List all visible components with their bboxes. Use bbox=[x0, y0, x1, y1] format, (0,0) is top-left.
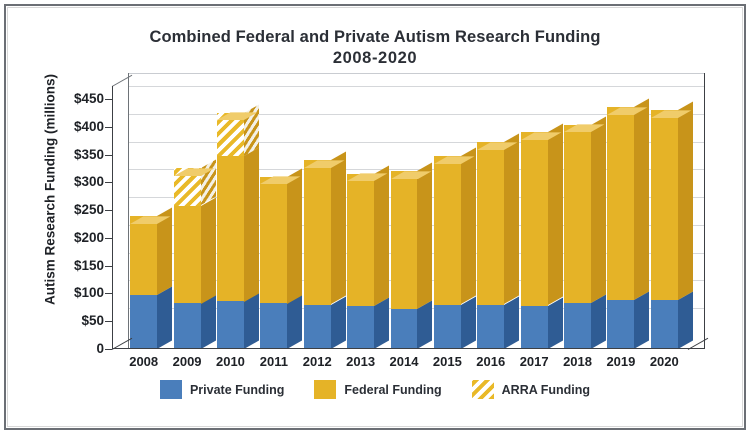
segment-face bbox=[304, 160, 331, 304]
segment-side bbox=[244, 293, 259, 349]
segment-side bbox=[548, 297, 563, 349]
bar-segment-federal-funding-2013[interactable] bbox=[347, 174, 374, 306]
segment-side bbox=[331, 296, 346, 349]
segment-face bbox=[521, 306, 548, 349]
bar-segment-federal-funding-2014[interactable] bbox=[391, 171, 418, 309]
legend-item-federal: Federal Funding bbox=[314, 380, 441, 399]
segment-face bbox=[347, 174, 374, 306]
y-tick-mark bbox=[105, 127, 112, 128]
arra-funding-swatch bbox=[472, 380, 494, 399]
segment-face bbox=[477, 305, 504, 349]
segment-side bbox=[504, 134, 519, 305]
legend-item-arra: ARRA Funding bbox=[472, 380, 590, 399]
y-tick-label: 0 bbox=[46, 341, 104, 356]
y-tick-mark bbox=[105, 99, 112, 100]
x-tick-label-2019: 2019 bbox=[601, 354, 640, 369]
x-tick-label-2015: 2015 bbox=[428, 354, 467, 369]
bar-2016[interactable] bbox=[477, 86, 504, 349]
x-tick-label-2013: 2013 bbox=[341, 354, 380, 369]
y-axis-title: Autism Research Funding (millions) bbox=[43, 40, 58, 340]
bar-segment-federal-funding-2012[interactable] bbox=[304, 160, 331, 304]
segment-side bbox=[678, 292, 693, 349]
x-tick-label-2009: 2009 bbox=[168, 354, 207, 369]
chart-screenshot: Combined Federal and Private Autism Rese… bbox=[0, 0, 750, 434]
bar-segment-federal-funding-2015[interactable] bbox=[434, 156, 461, 304]
y-tick-mark bbox=[105, 238, 112, 239]
bar-segment-private-funding-2011[interactable] bbox=[260, 303, 287, 349]
segment-side bbox=[244, 147, 259, 301]
bar-segment-private-funding-2020[interactable] bbox=[651, 300, 678, 349]
segment-face bbox=[391, 309, 418, 349]
bar-2017[interactable] bbox=[521, 86, 548, 349]
segment-face bbox=[174, 206, 201, 304]
chart-subtitle: 2008-2020 bbox=[0, 48, 750, 69]
x-tick-label-2018: 2018 bbox=[558, 354, 597, 369]
bar-2018[interactable] bbox=[564, 86, 591, 349]
segment-side bbox=[201, 197, 216, 303]
segment-side bbox=[287, 295, 302, 349]
segment-side bbox=[634, 99, 649, 300]
bar-segment-private-funding-2013[interactable] bbox=[347, 306, 374, 349]
segment-side bbox=[504, 296, 519, 349]
y-tick-mark bbox=[105, 210, 112, 211]
segment-face bbox=[607, 300, 634, 349]
segment-side bbox=[417, 163, 432, 309]
segment-face bbox=[434, 156, 461, 304]
bar-segment-private-funding-2010[interactable] bbox=[217, 301, 244, 349]
chart-legend: Private Funding Federal Funding ARRA Fun… bbox=[0, 380, 750, 399]
bar-segment-federal-funding-2010[interactable] bbox=[217, 156, 244, 302]
x-tick-label-2011: 2011 bbox=[254, 354, 293, 369]
segment-side bbox=[157, 287, 172, 349]
segment-side bbox=[678, 102, 693, 300]
plot-area: $450$400$350$300$250$200$150$100$500 200… bbox=[112, 86, 704, 349]
segment-face bbox=[607, 107, 634, 300]
legend-item-private: Private Funding bbox=[160, 380, 284, 399]
bar-segment-private-funding-2018[interactable] bbox=[564, 303, 591, 349]
segment-face bbox=[651, 300, 678, 349]
segment-side bbox=[591, 116, 606, 303]
bar-2013[interactable] bbox=[347, 86, 374, 349]
x-tick-label-2020: 2020 bbox=[645, 354, 684, 369]
segment-side bbox=[374, 166, 389, 306]
segment-side bbox=[591, 294, 606, 349]
segment-face bbox=[217, 156, 244, 302]
y-tick-mark bbox=[105, 321, 112, 322]
bar-2011[interactable] bbox=[260, 86, 287, 349]
bar-2020[interactable] bbox=[651, 86, 678, 349]
bar-segment-private-funding-2015[interactable] bbox=[434, 305, 461, 349]
private-funding-swatch bbox=[160, 380, 182, 399]
bar-segment-federal-funding-2019[interactable] bbox=[607, 107, 634, 300]
segment-face bbox=[304, 305, 331, 349]
segment-side bbox=[331, 152, 346, 305]
bar-segment-federal-funding-2009[interactable] bbox=[174, 206, 201, 304]
segment-side bbox=[287, 168, 302, 303]
x-tick-label-2014: 2014 bbox=[385, 354, 424, 369]
legend-label-arra: ARRA Funding bbox=[502, 383, 590, 397]
x-tick-label-2008: 2008 bbox=[124, 354, 163, 369]
segment-face bbox=[434, 305, 461, 349]
segment-face bbox=[651, 110, 678, 300]
bar-segment-private-funding-2009[interactable] bbox=[174, 303, 201, 349]
legend-label-private: Private Funding bbox=[190, 383, 284, 397]
x-axis-line bbox=[112, 348, 704, 349]
segment-face bbox=[260, 177, 287, 304]
x-tick-label-2012: 2012 bbox=[298, 354, 337, 369]
segment-face bbox=[521, 132, 548, 305]
segment-face bbox=[564, 125, 591, 303]
bar-segment-private-funding-2012[interactable] bbox=[304, 305, 331, 349]
segment-side bbox=[374, 297, 389, 349]
bar-segment-federal-funding-2011[interactable] bbox=[260, 177, 287, 304]
segment-face bbox=[217, 301, 244, 349]
segment-side bbox=[461, 296, 476, 349]
segment-face bbox=[347, 306, 374, 349]
bar-segment-federal-funding-2017[interactable] bbox=[521, 132, 548, 305]
y-tick-mark bbox=[105, 293, 112, 294]
bar-segment-federal-funding-2008[interactable] bbox=[130, 216, 157, 295]
bar-segment-private-funding-2017[interactable] bbox=[521, 306, 548, 349]
bar-segment-federal-funding-2018[interactable] bbox=[564, 125, 591, 303]
axis-back-right bbox=[704, 73, 705, 349]
x-tick-label-2016: 2016 bbox=[471, 354, 510, 369]
segment-face bbox=[477, 142, 504, 304]
segment-face bbox=[130, 216, 157, 295]
segment-face bbox=[391, 171, 418, 309]
y-axis-line bbox=[112, 86, 113, 349]
bar-segment-federal-funding-2016[interactable] bbox=[477, 142, 504, 304]
segment-side bbox=[417, 301, 432, 349]
bar-segment-private-funding-2019[interactable] bbox=[607, 300, 634, 349]
bar-2014[interactable] bbox=[391, 86, 418, 349]
x-tick-label-2017: 2017 bbox=[515, 354, 554, 369]
chart-title-block: Combined Federal and Private Autism Rese… bbox=[0, 27, 750, 69]
bar-2008[interactable] bbox=[130, 86, 157, 349]
segment-face bbox=[130, 295, 157, 349]
bar-2012[interactable] bbox=[304, 86, 331, 349]
segment-side bbox=[634, 292, 649, 349]
axis-back-left bbox=[128, 73, 129, 349]
y-tick-mark bbox=[105, 182, 112, 183]
segment-side bbox=[548, 124, 563, 306]
bar-segment-private-funding-2008[interactable] bbox=[130, 295, 157, 349]
segment-side bbox=[201, 295, 216, 349]
federal-funding-swatch bbox=[314, 380, 336, 399]
chart-title: Combined Federal and Private Autism Rese… bbox=[0, 27, 750, 48]
bar-2009[interactable] bbox=[174, 86, 201, 349]
bar-segment-federal-funding-2020[interactable] bbox=[651, 110, 678, 300]
bar-2019[interactable] bbox=[607, 86, 634, 349]
bar-segment-private-funding-2014[interactable] bbox=[391, 309, 418, 349]
segment-face bbox=[260, 303, 287, 349]
bar-segment-private-funding-2016[interactable] bbox=[477, 305, 504, 349]
bar-2015[interactable] bbox=[434, 86, 461, 349]
bar-2010[interactable] bbox=[217, 86, 244, 349]
y-tick-mark bbox=[105, 266, 112, 267]
legend-label-federal: Federal Funding bbox=[344, 383, 441, 397]
segment-side bbox=[461, 148, 476, 305]
segment-face bbox=[564, 303, 591, 349]
x-tick-label-2010: 2010 bbox=[211, 354, 250, 369]
segment-face bbox=[174, 303, 201, 349]
y-tick-mark bbox=[105, 155, 112, 156]
